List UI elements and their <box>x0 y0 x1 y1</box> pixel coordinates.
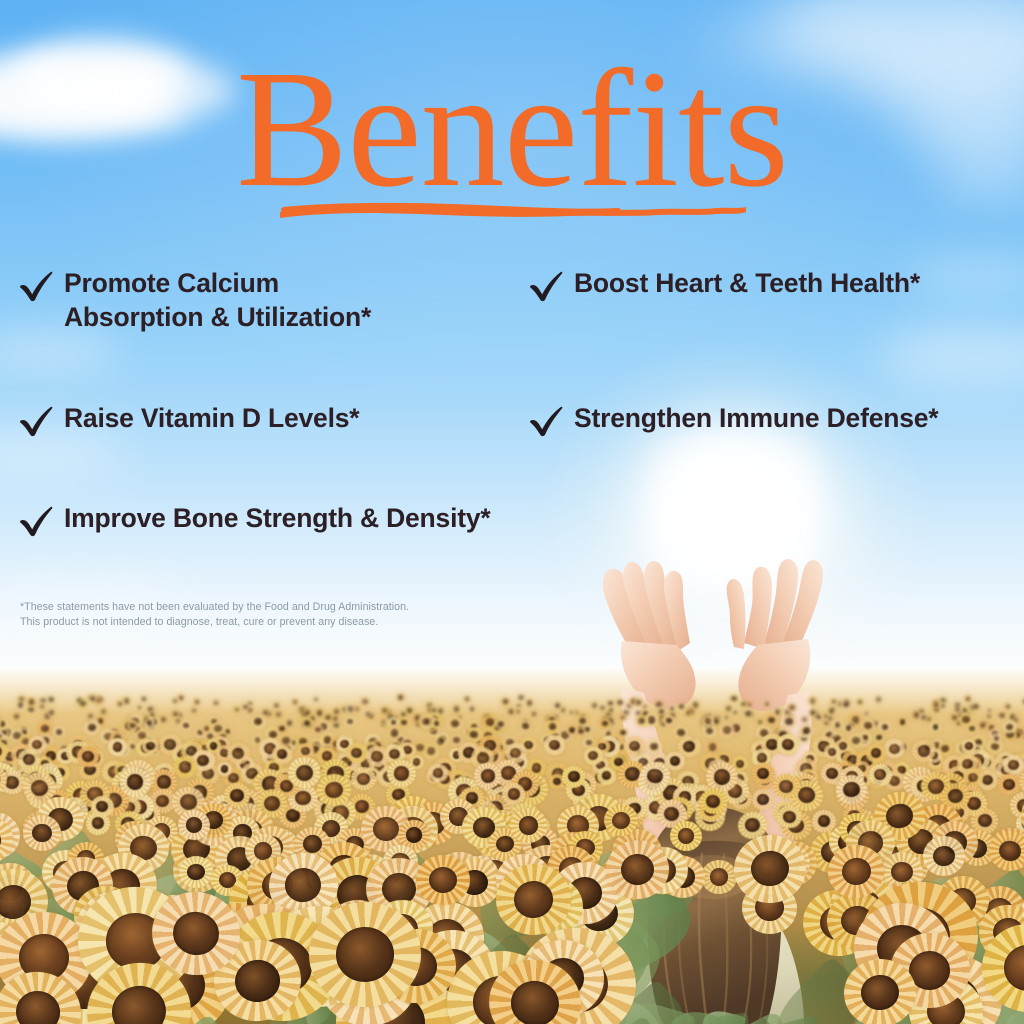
sunflower-icon <box>363 710 372 718</box>
sunflower-icon <box>787 703 797 713</box>
sunflower-icon <box>307 900 423 1010</box>
sunflower-icon <box>840 699 852 710</box>
checkmark-icon <box>18 404 54 438</box>
sunflower-icon <box>272 710 283 720</box>
sunflower-icon <box>764 714 778 727</box>
sunflower-icon <box>624 735 646 755</box>
sunflower-icon <box>930 721 942 733</box>
sunflower-icon <box>866 744 886 763</box>
sunflower-icon <box>931 701 940 709</box>
sunflower-icon <box>344 703 356 715</box>
sunflower-icon <box>142 738 159 754</box>
sunflower-icon <box>990 732 1002 744</box>
sunflower-icon <box>83 720 100 737</box>
sunflower-icon <box>739 699 749 708</box>
benefit-item-raise-vitamin-d-levels: Raise Vitamin D Levels* <box>18 401 359 438</box>
sunflower-icon <box>986 828 1024 875</box>
sunflower-icon <box>77 699 88 710</box>
sunflower-icon <box>602 801 641 838</box>
sunflower-icon <box>607 705 616 713</box>
benefit-label: Boost Heart & Teeth Health* <box>574 266 920 300</box>
sunflower-icon <box>139 694 148 703</box>
benefit-item-strengthen-immune-defense: Strengthen Immune Defense* <box>528 401 938 438</box>
sunflower-icon <box>879 721 892 733</box>
sunflower-icon <box>529 709 538 717</box>
sunflower-icon <box>663 715 675 726</box>
sunflower-icon <box>301 717 314 730</box>
sunflower-icon <box>387 725 404 741</box>
sunflower-icon <box>178 855 215 890</box>
checkmark-icon <box>528 404 564 438</box>
sunflower-icon <box>12 712 21 721</box>
sunflower-icon <box>604 838 671 902</box>
sunflower-icon <box>518 719 533 733</box>
page-title: Benefits <box>0 45 1024 213</box>
sunflower-icon <box>959 713 973 726</box>
sunflower-icon <box>251 715 266 730</box>
sunflower-icon <box>763 700 771 708</box>
sunflower-icon <box>516 692 527 703</box>
sunflower-icon <box>276 723 288 734</box>
sunflower-icon <box>118 766 151 798</box>
sunflower-icon <box>807 696 819 707</box>
sunflower-icon <box>730 831 809 906</box>
sunflower-icon <box>912 740 935 762</box>
sunflower-icon <box>52 725 66 738</box>
sunflower-icon <box>751 763 774 785</box>
sunflower-icon <box>668 819 704 853</box>
sunflower-icon <box>1002 720 1017 734</box>
sunflower-icon <box>396 693 406 703</box>
sunflower-icon <box>568 709 576 716</box>
sunflower-icon <box>701 860 737 894</box>
sunflower-icon <box>107 736 128 756</box>
sunflower-icon <box>115 699 124 708</box>
sunflower-icon <box>450 703 462 714</box>
benefit-label: Improve Bone Strength & Density* <box>64 501 491 535</box>
sunflower-icon <box>331 706 341 716</box>
checkmark-icon <box>18 504 54 538</box>
sunflower-icon <box>822 713 830 720</box>
sunflower-icon <box>985 707 993 714</box>
sunflower-icon <box>77 745 100 766</box>
sunflower-icon <box>675 702 687 713</box>
sunflower-icon <box>553 701 562 710</box>
sunflower-icon <box>980 922 1024 1013</box>
benefit-label: Strengthen Immune Defense* <box>574 401 938 435</box>
sunflower-icon <box>144 718 156 730</box>
sunflower-icon <box>855 698 864 707</box>
checkmark-icon <box>528 269 564 303</box>
sunflower-icon <box>47 707 57 717</box>
sunflower-icon <box>843 723 854 733</box>
sunflower-icon <box>89 794 115 819</box>
sunflower-icon <box>290 697 299 706</box>
sunflower-field <box>0 668 1024 1024</box>
sunflower-icon <box>637 760 672 793</box>
sunflower-icon <box>446 715 463 731</box>
sunflower-icon <box>427 763 448 783</box>
sunflower-icon <box>176 808 213 843</box>
sunflower-icon <box>729 693 741 704</box>
sunflower-icon <box>772 772 802 801</box>
sunflower-icon <box>314 708 325 718</box>
sunflower-icon <box>159 715 170 725</box>
sunflower-icon <box>724 704 734 713</box>
sunflower-icon <box>171 697 179 705</box>
sunflower-icon <box>634 714 648 727</box>
sunflower-icon <box>233 706 240 713</box>
benefit-label: Promote Calcium Absorption & Utilization… <box>64 266 371 335</box>
benefit-label: Raise Vitamin D Levels* <box>64 401 359 435</box>
sunflower-icon <box>834 773 868 805</box>
sunflower-icon <box>597 703 607 713</box>
sunflower-icon <box>823 743 841 760</box>
disclaimer-text: *These statements have not been evaluate… <box>20 600 540 629</box>
sunflower-icon <box>562 766 585 788</box>
sunflower-icon <box>212 698 221 706</box>
sunflower-icon <box>190 706 198 714</box>
sunflower-icon <box>26 697 37 708</box>
sunflower-icon <box>776 732 801 756</box>
sunflower-icon <box>145 885 248 983</box>
brush-underline-icon <box>278 200 748 222</box>
sunflower-icon <box>216 761 233 777</box>
sunflower-icon <box>596 766 616 785</box>
benefit-item-improve-bone-strength: Improve Bone Strength & Density* <box>18 501 491 538</box>
sunflower-icon <box>619 714 627 722</box>
sunflower-icon <box>462 694 471 703</box>
sunflower-icon <box>964 695 972 703</box>
sunflower-icon <box>884 739 905 758</box>
sunflower-icon <box>158 733 182 755</box>
checkmark-icon <box>18 269 54 303</box>
sunflower-icon <box>719 722 735 737</box>
sunflower-icon <box>841 956 918 1024</box>
sunflower-icon <box>241 703 250 712</box>
sunflower-icon <box>192 698 201 707</box>
sunflower-icon <box>702 724 716 737</box>
sunflower-icon <box>960 739 976 754</box>
sunflower-icon <box>500 696 511 706</box>
benefit-item-promote-calcium-absorption: Promote Calcium Absorption & Utilization… <box>18 266 371 335</box>
sunflower-icon <box>360 697 371 707</box>
sunflower-icon <box>286 755 323 791</box>
sunflower-icon <box>468 705 476 713</box>
sunflower-icon <box>868 763 893 787</box>
sunflower-icon <box>576 727 586 737</box>
sunflower-icon <box>350 765 377 790</box>
sunflower-icon <box>698 787 728 816</box>
sunflower-icon <box>15 699 27 711</box>
sunflower-icon <box>633 697 644 707</box>
sunflower-icon <box>22 814 61 851</box>
sunflower-icon <box>364 744 390 769</box>
sunflower-icon <box>508 806 549 845</box>
sunflower-icon <box>544 720 559 734</box>
sunflower-icon <box>830 697 838 705</box>
benefits-poster: Benefits Promote Calcium Absorption & Ut… <box>0 0 1024 1024</box>
sunflower-icon <box>544 735 566 756</box>
sunflower-icon <box>180 719 193 731</box>
sunflower-icon <box>897 717 908 727</box>
sunflower-icon <box>507 707 516 715</box>
benefits-list: Promote Calcium Absorption & Utilization… <box>0 258 1024 558</box>
sunflower-icon <box>599 717 611 728</box>
sunflower-icon <box>431 718 442 728</box>
benefit-item-boost-heart-teeth-health: Boost Heart & Teeth Health* <box>528 266 920 303</box>
sunflower-icon <box>615 698 625 708</box>
sunflower-icon <box>38 703 46 710</box>
sunflower-icon <box>386 758 417 788</box>
sunflower-icon <box>343 715 355 727</box>
sunflower-icon <box>416 855 470 905</box>
sunflower-icon <box>583 745 604 765</box>
sunflower-icon <box>312 723 324 734</box>
sunflower-icon <box>921 834 968 879</box>
sunflower-icon <box>971 702 982 712</box>
sunflower-icon <box>495 718 508 730</box>
